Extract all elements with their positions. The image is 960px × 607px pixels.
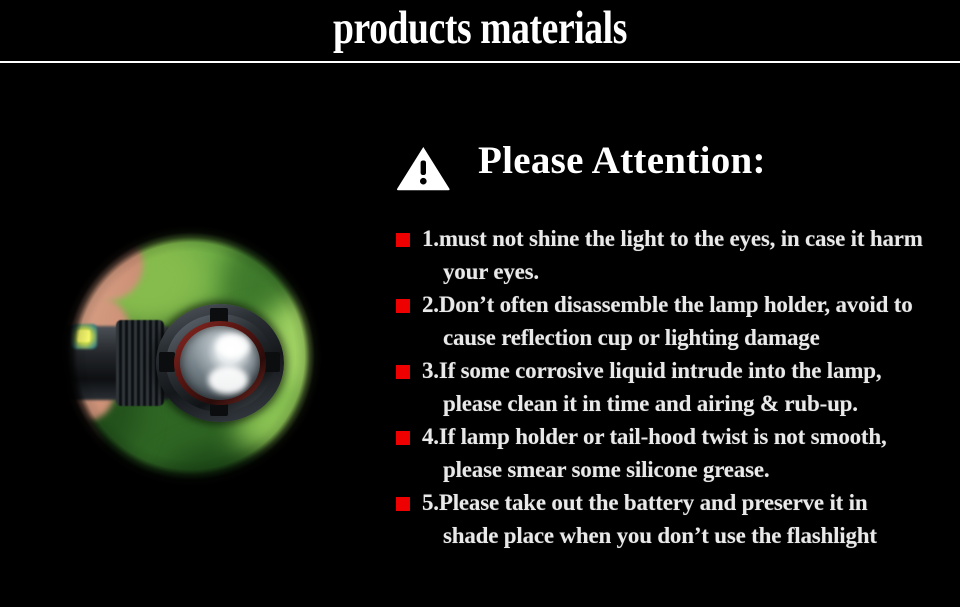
bezel-crenellation	[264, 352, 280, 372]
note-text: 2.Don’t often disassemble the lamp holde…	[386, 288, 952, 354]
note-line-1: 3.If some corrosive liquid intrude into …	[422, 358, 881, 383]
note-line-1: 1.must not shine the light to the eyes, …	[422, 226, 923, 251]
warning-triangle-icon	[396, 145, 452, 191]
bullet-icon	[396, 431, 410, 445]
attention-notes-list: 1.must not shine the light to the eyes, …	[386, 222, 952, 552]
note-line-2: please clean it in time and airing & rub…	[422, 387, 952, 420]
note-text: 4.If lamp holder or tail-hood twist is n…	[386, 420, 952, 486]
attention-panel: Please Attention: 1.must not shine the l…	[386, 130, 952, 550]
note-line-1: 2.Don’t often disassemble the lamp holde…	[422, 292, 913, 317]
note-text: 1.must not shine the light to the eyes, …	[386, 222, 952, 288]
bezel-crenellation	[159, 352, 175, 372]
flashlight-lens	[180, 326, 260, 400]
list-item: 5.Please take out the battery and preser…	[386, 486, 952, 552]
attention-title: Please Attention:	[478, 135, 766, 187]
product-photo	[8, 170, 374, 542]
bullet-icon	[396, 365, 410, 379]
note-text: 5.Please take out the battery and preser…	[386, 486, 952, 552]
product-photo-circle	[30, 195, 352, 517]
note-line-2: shade place when you don’t use the flash…	[422, 519, 952, 552]
led-phosphor	[77, 330, 90, 342]
flashlight	[60, 300, 290, 422]
bullet-icon	[396, 233, 410, 247]
header-divider	[0, 61, 960, 63]
note-line-2: cause reflection cup or lighting damage	[422, 321, 952, 354]
lens-highlight	[208, 366, 248, 394]
note-line-1: 5.Please take out the battery and preser…	[422, 490, 867, 515]
note-line-2: your eyes.	[422, 255, 952, 288]
list-item: 4.If lamp holder or tail-hood twist is n…	[386, 420, 952, 486]
product-materials-banner: products materials	[0, 0, 960, 607]
note-line-1: 4.If lamp holder or tail-hood twist is n…	[422, 424, 887, 449]
bullet-icon	[396, 497, 410, 511]
banner-header: products materials	[0, 0, 960, 63]
attention-header: Please Attention:	[386, 135, 952, 193]
lens-highlight	[216, 334, 250, 358]
note-line-2: please smear some silicone grease.	[422, 453, 952, 486]
note-text: 3.If some corrosive liquid intrude into …	[386, 354, 952, 420]
list-item: 3.If some corrosive liquid intrude into …	[386, 354, 952, 420]
bullet-icon	[396, 299, 410, 313]
page-title: products materials	[96, 0, 864, 56]
list-item: 1.must not shine the light to the eyes, …	[386, 222, 952, 288]
list-item: 2.Don’t often disassemble the lamp holde…	[386, 288, 952, 354]
